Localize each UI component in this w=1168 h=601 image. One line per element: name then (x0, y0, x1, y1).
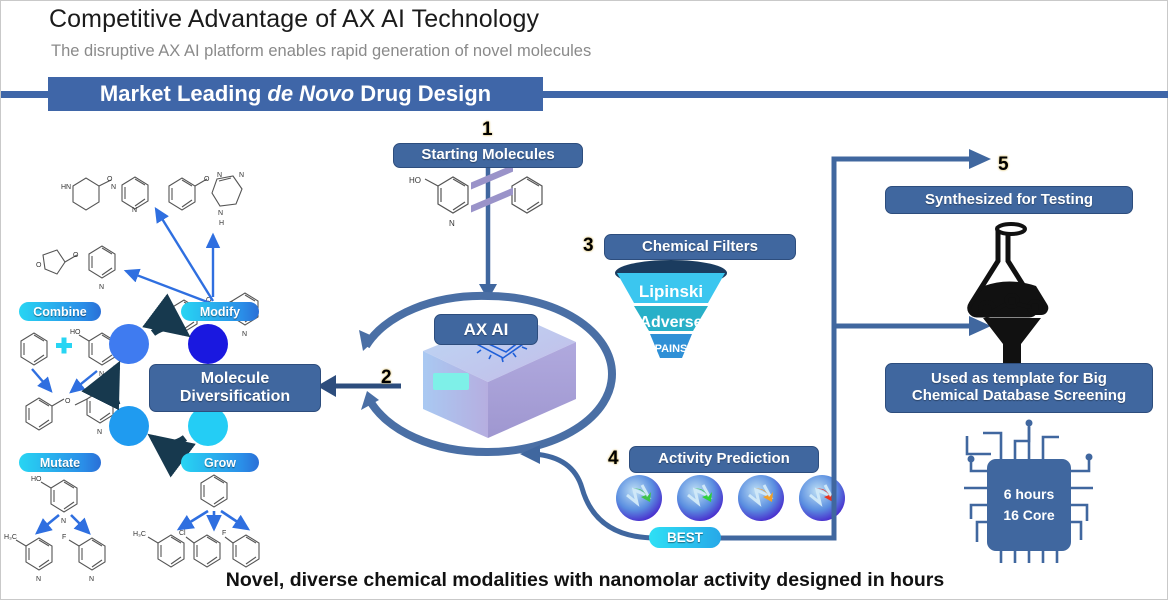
activity-thumb-2 (677, 475, 723, 521)
node-molecule-diversification[interactable]: Molecule Diversification (149, 364, 321, 412)
mutate-reaction-arrows (37, 515, 89, 533)
funnel-band-pains: PAINS (655, 343, 688, 355)
cycle-node-mutate (109, 406, 149, 446)
step-number-3: 3 (583, 235, 594, 257)
molecule-starting-labels: HO N (409, 176, 455, 228)
label-cl: Cl (179, 530, 186, 537)
pill-best[interactable]: BEST (649, 527, 721, 548)
node-big-database-screening[interactable]: Used as template for Big Chemical Databa… (885, 363, 1153, 413)
arrow-start-to-loop (479, 167, 497, 300)
label-n-a: N (111, 184, 116, 191)
pill-modify[interactable]: Modify (181, 302, 259, 321)
right-branch-connectors (701, 159, 969, 538)
chemical-filter-funnel-icon (615, 260, 727, 358)
label-h3c: H₃C (4, 534, 17, 541)
label-n2: N (97, 429, 102, 436)
cycle-arrow-bottom (153, 438, 185, 444)
label-n-g: N (242, 331, 247, 338)
molecule-mutate-labels: HO N H₃C N F N (4, 476, 94, 583)
banner-text-em: de Novo (267, 81, 354, 106)
label-o-a: O (107, 176, 113, 183)
cpu-line-hours: 6 hours (1004, 484, 1055, 505)
node-starting-molecules[interactable]: Starting Molecules (393, 143, 583, 168)
label-f: F (62, 534, 66, 541)
node-synthesized-for-testing[interactable]: Synthesized for Testing (885, 186, 1133, 214)
node-chemical-filters[interactable]: Chemical Filters (604, 234, 796, 260)
modify-reaction-arrows (126, 209, 213, 303)
right-branch-arrowheads (969, 149, 991, 336)
activity-thumb-4 (799, 475, 845, 521)
label-n-f: N (218, 210, 223, 217)
step-number-4: 4 (608, 448, 619, 470)
label-f-g: F (222, 530, 226, 537)
activity-thumb-3 (738, 475, 784, 521)
step-number-2: 2 (381, 367, 392, 389)
activity-thumbnails (616, 475, 845, 521)
funnel-band-lipinski: Lipinski (639, 282, 703, 301)
pill-combine[interactable]: Combine (19, 302, 101, 321)
molecule-grow-group (148, 475, 259, 567)
pill-mutate[interactable]: Mutate (19, 453, 101, 472)
bottom-caption: Novel, diverse chemical modalities with … (1, 569, 1168, 592)
label-ho: HO (70, 329, 81, 336)
step-number-1: 1 (482, 119, 493, 141)
node-template-line2: Chemical Database Screening (912, 388, 1126, 405)
node-template-line1: Used as template for Big (931, 371, 1107, 388)
cycle-arrow-left (113, 367, 117, 405)
label-n-b: N (132, 207, 137, 214)
label-o-b: O (73, 252, 79, 259)
cpu-line-cores: 16 Core (1003, 505, 1054, 526)
banner-text-post: Drug Design (354, 81, 491, 106)
label-n-e: N (239, 172, 244, 179)
label-o: O (65, 398, 71, 405)
label-n: N (99, 371, 104, 378)
node-ax-ai[interactable]: AX AI (434, 314, 538, 345)
funnel-band-adverse: Adverse (639, 314, 702, 331)
cycle-arrow-top (153, 327, 185, 333)
label-o-d: O (204, 176, 210, 183)
label-hn: HN (61, 184, 71, 191)
label-ho-s: HO (409, 176, 421, 185)
cycle-node-grow (188, 406, 228, 446)
label-n-m1: N (61, 518, 66, 525)
pill-grow[interactable]: Grow (181, 453, 259, 472)
page-subtitle: The disruptive AX AI platform enables ra… (51, 42, 591, 61)
grow-reaction-arrows (179, 511, 248, 529)
label-n-s: N (449, 219, 455, 228)
cpu-chip: 6 hours 16 Core (987, 459, 1071, 551)
label-o-c: O (36, 262, 42, 269)
label-n-d: N (217, 172, 222, 179)
page-title: Competitive Advantage of AX AI Technolog… (49, 5, 539, 34)
node-md-line1: Molecule (201, 370, 269, 388)
node-md-line2: Diversification (180, 388, 290, 406)
connector-to-step5 (701, 159, 969, 538)
molecule-mutate-group (16, 480, 105, 570)
label-ho-m: HO (31, 476, 42, 483)
molecule-combine-group (21, 333, 115, 430)
cycle-node-combine (109, 324, 149, 364)
banner-text-pre: Market Leading (100, 81, 267, 106)
molecule-grow-labels: H₃C Cl F (133, 530, 226, 538)
cycle-node-modify (188, 324, 228, 364)
ax-ai-server-icon (423, 165, 576, 438)
combine-plus-icon (56, 338, 72, 354)
activity-thumb-1 (616, 475, 662, 521)
section-banner: Market Leading de Novo Drug Design (48, 77, 543, 111)
molecule-combine-labels: HO N O N (65, 329, 104, 436)
flask-icon (970, 224, 1049, 315)
molecule-starting-group (425, 177, 542, 213)
funnel-band-labels: Lipinski Adverse PAINS (639, 282, 703, 355)
node-activity-prediction[interactable]: Activity Prediction (629, 446, 819, 473)
label-n-c: N (99, 284, 104, 291)
step-number-5: 5 (998, 154, 1009, 176)
label-h3c-g: H₃C (133, 531, 146, 538)
slide-root: Competitive Advantage of AX AI Technolog… (0, 0, 1168, 600)
ax-ai-loop-arrowheads (359, 330, 379, 410)
combine-reaction-arrows (32, 369, 97, 392)
label-h: H (219, 220, 224, 227)
